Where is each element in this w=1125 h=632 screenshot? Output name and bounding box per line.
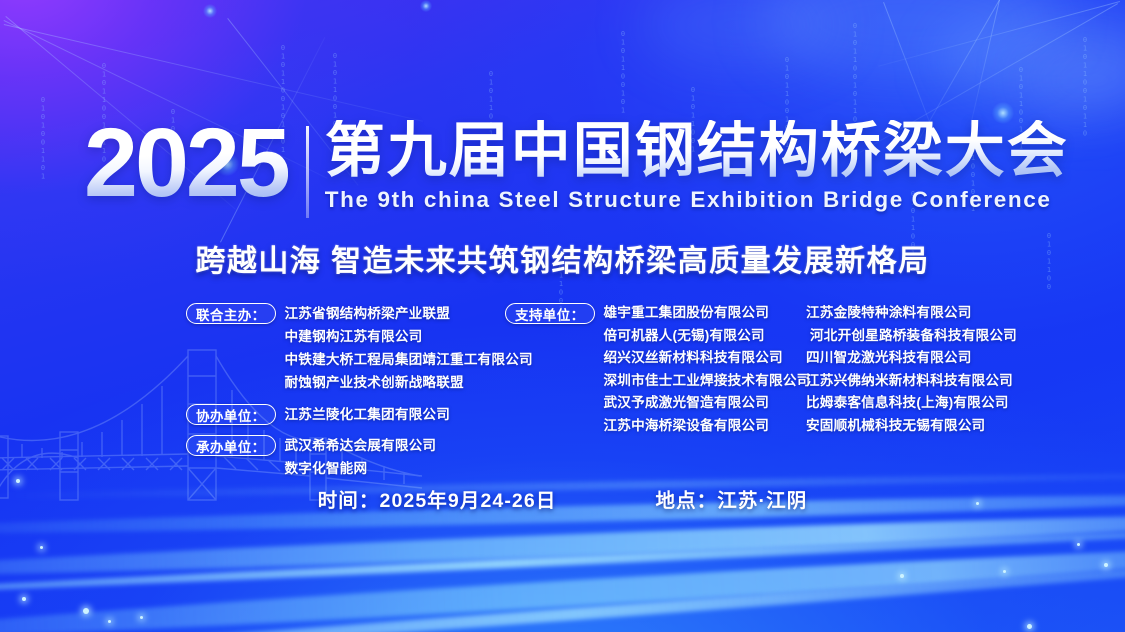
title-block: 第九届中国钢结构桥梁大会 The 9th china Steel Structu… [325,118,1069,213]
date-label: 时间： [318,490,380,512]
event-meta: 时间：2025年9月24-26日 地点：江苏·江阴 [0,484,1125,513]
year-number: 2025 [84,118,288,207]
title-row: 2025 第九届中国钢结构桥梁大会 The 9th china Steel St… [84,118,1069,218]
list-item: 比姆泰客信息科技(上海)有限公司 [806,392,1017,415]
host-entries: 武汉希希达会展有限公司 数字化智能网 [285,434,437,480]
list-item: 河北开创星路桥装备科技有限公司 [806,325,1017,348]
title-divider [306,126,309,218]
list-item: 耐蚀钢产业技术创新战略联盟 [285,371,533,394]
list-item: 江苏中海桥梁设备有限公司 [604,415,811,438]
list-item: 绍兴汉丝新材料科技有限公司 [604,347,811,370]
list-item: 武汉希希达会展有限公司 [285,434,437,457]
label-supporter: 支持单位： [505,303,595,324]
conference-title-cn: 第九届中国钢结构桥梁大会 [325,120,1069,182]
co-host-entries: 江苏省钢结构桥梁产业联盟 中建钢构江苏有限公司 中铁建大桥工程局集团靖江重工有限… [285,302,533,394]
list-item: 雄宇重工集团股份有限公司 [604,302,811,325]
organizer-group-supporter-continued: 江苏金陵特种涂料有限公司 河北开创星路桥装备科技有限公司 四川智龙激光科技有限公… [806,302,1046,437]
date-value: 2025年9月24-26日 [380,490,557,512]
organizers-column-middle: 支持单位： 雄宇重工集团股份有限公司 倍可机器人(无锡)有限公司 绍兴汉丝新材料… [505,302,785,437]
label-co-host: 联合主办： [186,303,276,324]
supporter-entries: 雄宇重工集团股份有限公司 倍可机器人(无锡)有限公司 绍兴汉丝新材料科技有限公司… [604,302,811,437]
list-item: 江苏省钢结构桥梁产业联盟 [285,302,533,325]
conference-title-en: The 9th china Steel Structure Exhibition… [325,187,1069,213]
list-item: 四川智龙激光科技有限公司 [806,347,1017,370]
organizers-column-left: 联合主办： 江苏省钢结构桥梁产业联盟 中建钢构江苏有限公司 中铁建大桥工程局集团… [186,302,486,480]
organizer-group-host: 承办单位： 武汉希希达会展有限公司 数字化智能网 [186,434,486,480]
list-item: 倍可机器人(无锡)有限公司 [604,325,811,348]
co-organizer-entries: 江苏兰陵化工集团有限公司 [285,403,451,426]
label-host: 承办单位： [186,435,276,456]
list-item: 江苏兰陵化工集团有限公司 [285,403,451,426]
organizers-column-right: 江苏金陵特种涂料有限公司 河北开创星路桥装备科技有限公司 四川智龙激光科技有限公… [806,302,1046,437]
supporter-entries-continued: 江苏金陵特种涂料有限公司 河北开创星路桥装备科技有限公司 四川智龙激光科技有限公… [806,302,1017,437]
list-item: 中铁建大桥工程局集团靖江重工有限公司 [285,348,533,371]
label-co-organizer: 协办单位： [186,404,276,425]
list-item: 江苏金陵特种涂料有限公司 [806,302,1017,325]
conference-subtitle: 跨越山海 智造未来共筑钢结构桥梁高质量发展新格局 [0,236,1125,280]
organizer-group-co-organizer: 协办单位： 江苏兰陵化工集团有限公司 [186,403,486,426]
location-value: 江苏·江阴 [717,490,807,512]
list-item: 中建钢构江苏有限公司 [285,325,533,348]
conference-banner: 0101001101 010110010110 01011001 0101100… [0,0,1125,632]
list-item: 深圳市佳士工业焊接技术有限公司 [604,370,811,393]
list-item: 安固顺机械科技无锡有限公司 [806,415,1017,438]
organizer-group-co-host: 联合主办： 江苏省钢结构桥梁产业联盟 中建钢构江苏有限公司 中铁建大桥工程局集团… [186,302,486,394]
list-item: 武汉予成激光智造有限公司 [604,392,811,415]
organizer-group-supporter: 支持单位： 雄宇重工集团股份有限公司 倍可机器人(无锡)有限公司 绍兴汉丝新材料… [505,302,785,437]
location-label: 地点： [655,490,717,512]
list-item: 江苏兴佛纳米新材料科技有限公司 [806,370,1017,393]
list-item: 数字化智能网 [285,457,437,480]
